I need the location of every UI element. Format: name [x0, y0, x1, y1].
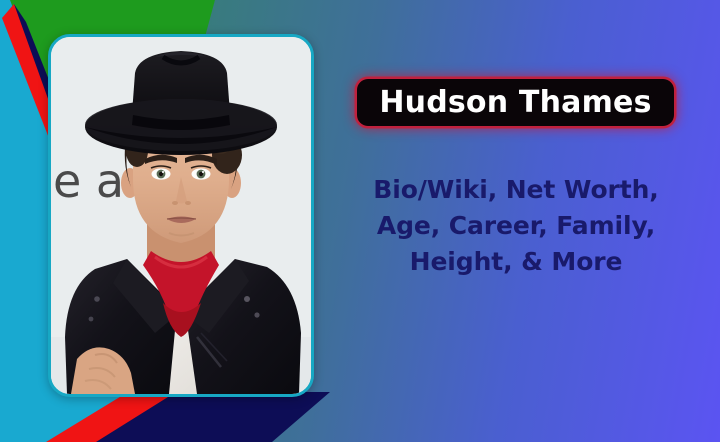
subtitle-line-1: Bio/Wiki, Net Worth,: [332, 172, 700, 208]
subtitle-block: Bio/Wiki, Net Worth, Age, Career, Family…: [332, 172, 700, 279]
title-badge: Hudson Thames: [357, 79, 674, 126]
portrait-photo-frame: e a: [48, 34, 314, 397]
subtitle-line-3: Height, & More: [332, 244, 700, 280]
title-text: Hudson Thames: [379, 88, 651, 118]
subtitle-line-2: Age, Career, Family,: [332, 208, 700, 244]
svg-text:e a: e a: [53, 154, 124, 208]
promo-graphic: e a: [0, 0, 720, 442]
portrait-photo: e a: [51, 37, 311, 394]
